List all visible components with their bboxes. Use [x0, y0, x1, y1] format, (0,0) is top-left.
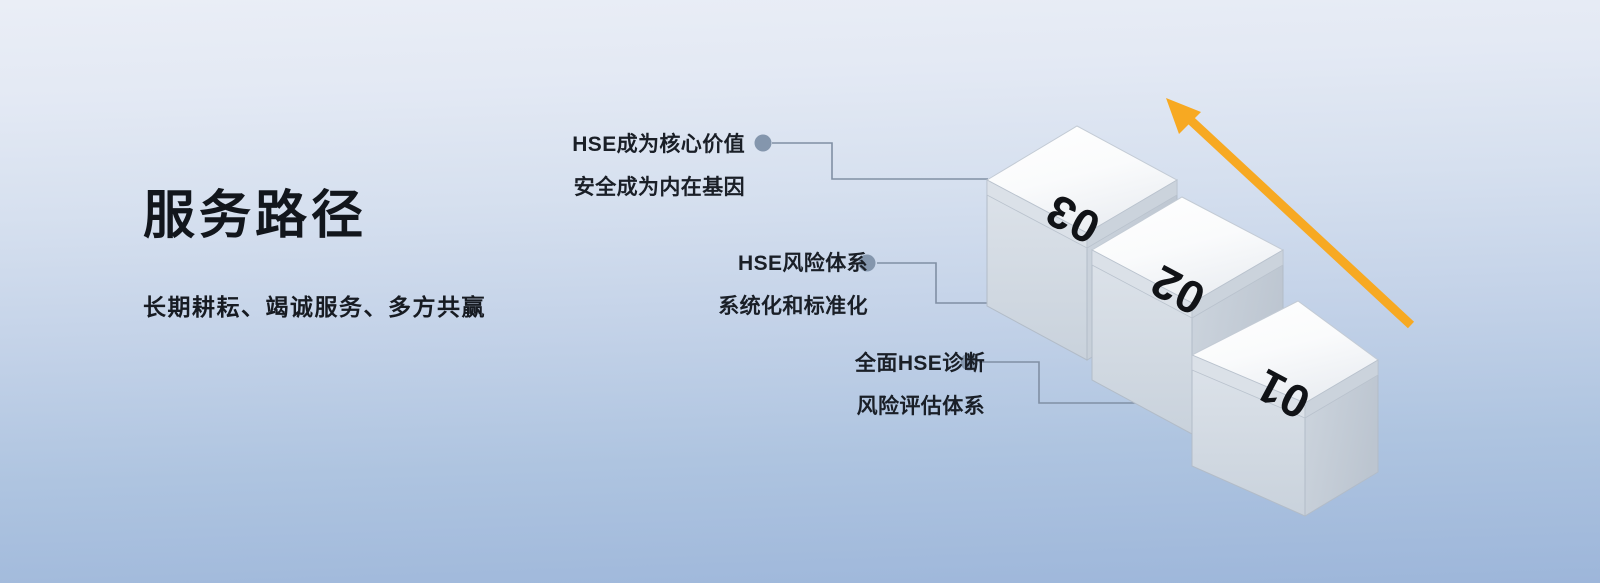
- callout-label-3: 全面HSE诊断 风险评估体系: [705, 353, 985, 417]
- callout-3-line-1: 全面HSE诊断: [705, 353, 985, 374]
- connector-line-1: [755, 135, 989, 180]
- callout-2-line-2: 系统化和标准化: [585, 296, 868, 317]
- slide-canvas: 03 02 01 服务路径 长期耕耘、竭诚服务、多方共赢: [0, 0, 1600, 583]
- callout-label-1: HSE成为核心价值 安全成为内在基因: [460, 134, 745, 198]
- callout-2-line-1: HSE风险体系: [585, 253, 868, 274]
- connector-dot-1: [755, 135, 772, 152]
- callout-1-line-1: HSE成为核心价值: [460, 134, 745, 155]
- callout-3-line-2: 风险评估体系: [705, 396, 985, 417]
- callout-1-line-2: 安全成为内在基因: [460, 177, 745, 198]
- callout-label-2: HSE风险体系 系统化和标准化: [585, 253, 868, 317]
